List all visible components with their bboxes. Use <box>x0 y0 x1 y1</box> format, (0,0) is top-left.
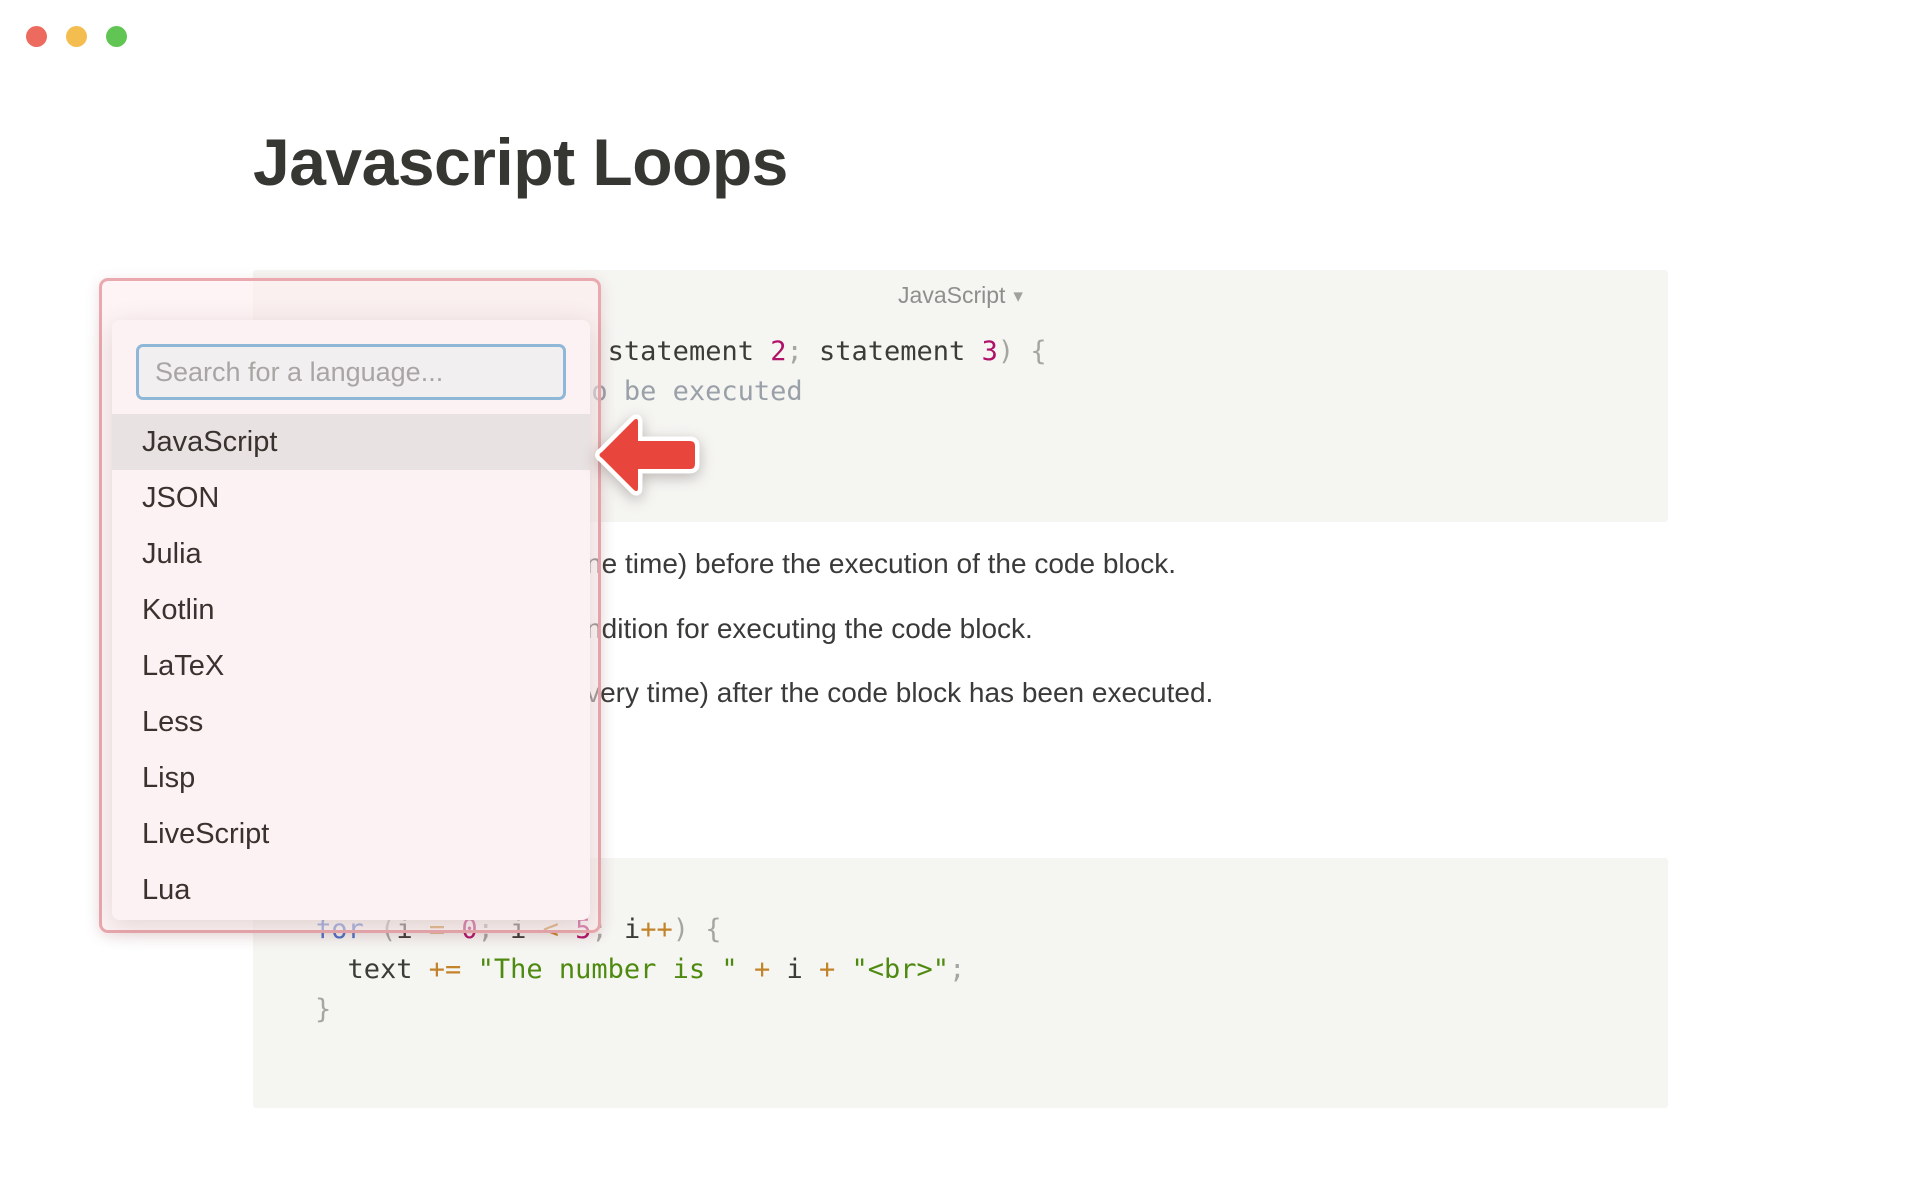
code-token: { <box>1030 336 1046 367</box>
language-option-less[interactable]: Less <box>112 694 590 750</box>
minimize-window-button[interactable] <box>66 26 87 47</box>
code-token: ++ <box>640 914 673 945</box>
language-option-latex[interactable]: LaTeX <box>112 638 590 694</box>
code-token: "<br>" <box>852 954 950 985</box>
code-token: ; <box>949 954 965 985</box>
language-option-kotlin[interactable]: Kotlin <box>112 582 590 638</box>
code-token: "The number is " <box>478 954 738 985</box>
code-token: ; <box>786 336 802 367</box>
code-token <box>1014 336 1030 367</box>
close-window-button[interactable] <box>26 26 47 47</box>
code-content-2: for (i = 0; i < 5; i++) { text += "The n… <box>315 910 965 1030</box>
code-token: + <box>819 954 835 985</box>
code-token <box>461 954 477 985</box>
language-search-input[interactable] <box>136 344 566 400</box>
search-field-wrapper <box>112 320 590 414</box>
app-window: Javascript Loops JavaScript▾ for (statem… <box>0 0 1920 1200</box>
code-token: 2 <box>770 336 786 367</box>
code-token: text <box>315 954 429 985</box>
language-selector-label: JavaScript <box>898 282 1005 308</box>
language-selector-button[interactable]: JavaScript▾ <box>253 278 1668 312</box>
window-controls <box>26 26 127 47</box>
maximize-window-button[interactable] <box>106 26 127 47</box>
chevron-down-icon: ▾ <box>1013 280 1023 314</box>
language-option-json[interactable]: JSON <box>112 470 590 526</box>
code-token: { <box>705 914 721 945</box>
code-token: i <box>770 954 819 985</box>
code-token: += <box>429 954 462 985</box>
code-token <box>835 954 851 985</box>
code-token: i <box>608 914 641 945</box>
page-title: Javascript Loops <box>253 124 788 200</box>
language-option-list: JavaScriptJSONJuliaKotlinLaTeXLessLispLi… <box>112 414 590 918</box>
code-token: ) <box>998 336 1014 367</box>
language-option-lua[interactable]: Lua <box>112 862 590 918</box>
code-token <box>738 954 754 985</box>
code-token: ) <box>673 914 689 945</box>
code-token: ; <box>591 914 607 945</box>
code-token: statement <box>803 336 982 367</box>
code-token: statement <box>591 336 770 367</box>
language-option-javascript[interactable]: JavaScript <box>112 414 590 470</box>
language-option-livescript[interactable]: LiveScript <box>112 806 590 862</box>
language-option-julia[interactable]: Julia <box>112 526 590 582</box>
language-option-lisp[interactable]: Lisp <box>112 750 590 806</box>
code-token <box>689 914 705 945</box>
code-token: 3 <box>982 336 998 367</box>
window-titlebar <box>0 0 1920 76</box>
code-token: } <box>315 994 331 1025</box>
language-dropdown-popover[interactable]: JavaScriptJSONJuliaKotlinLaTeXLessLispLi… <box>112 320 590 920</box>
code-token: + <box>754 954 770 985</box>
